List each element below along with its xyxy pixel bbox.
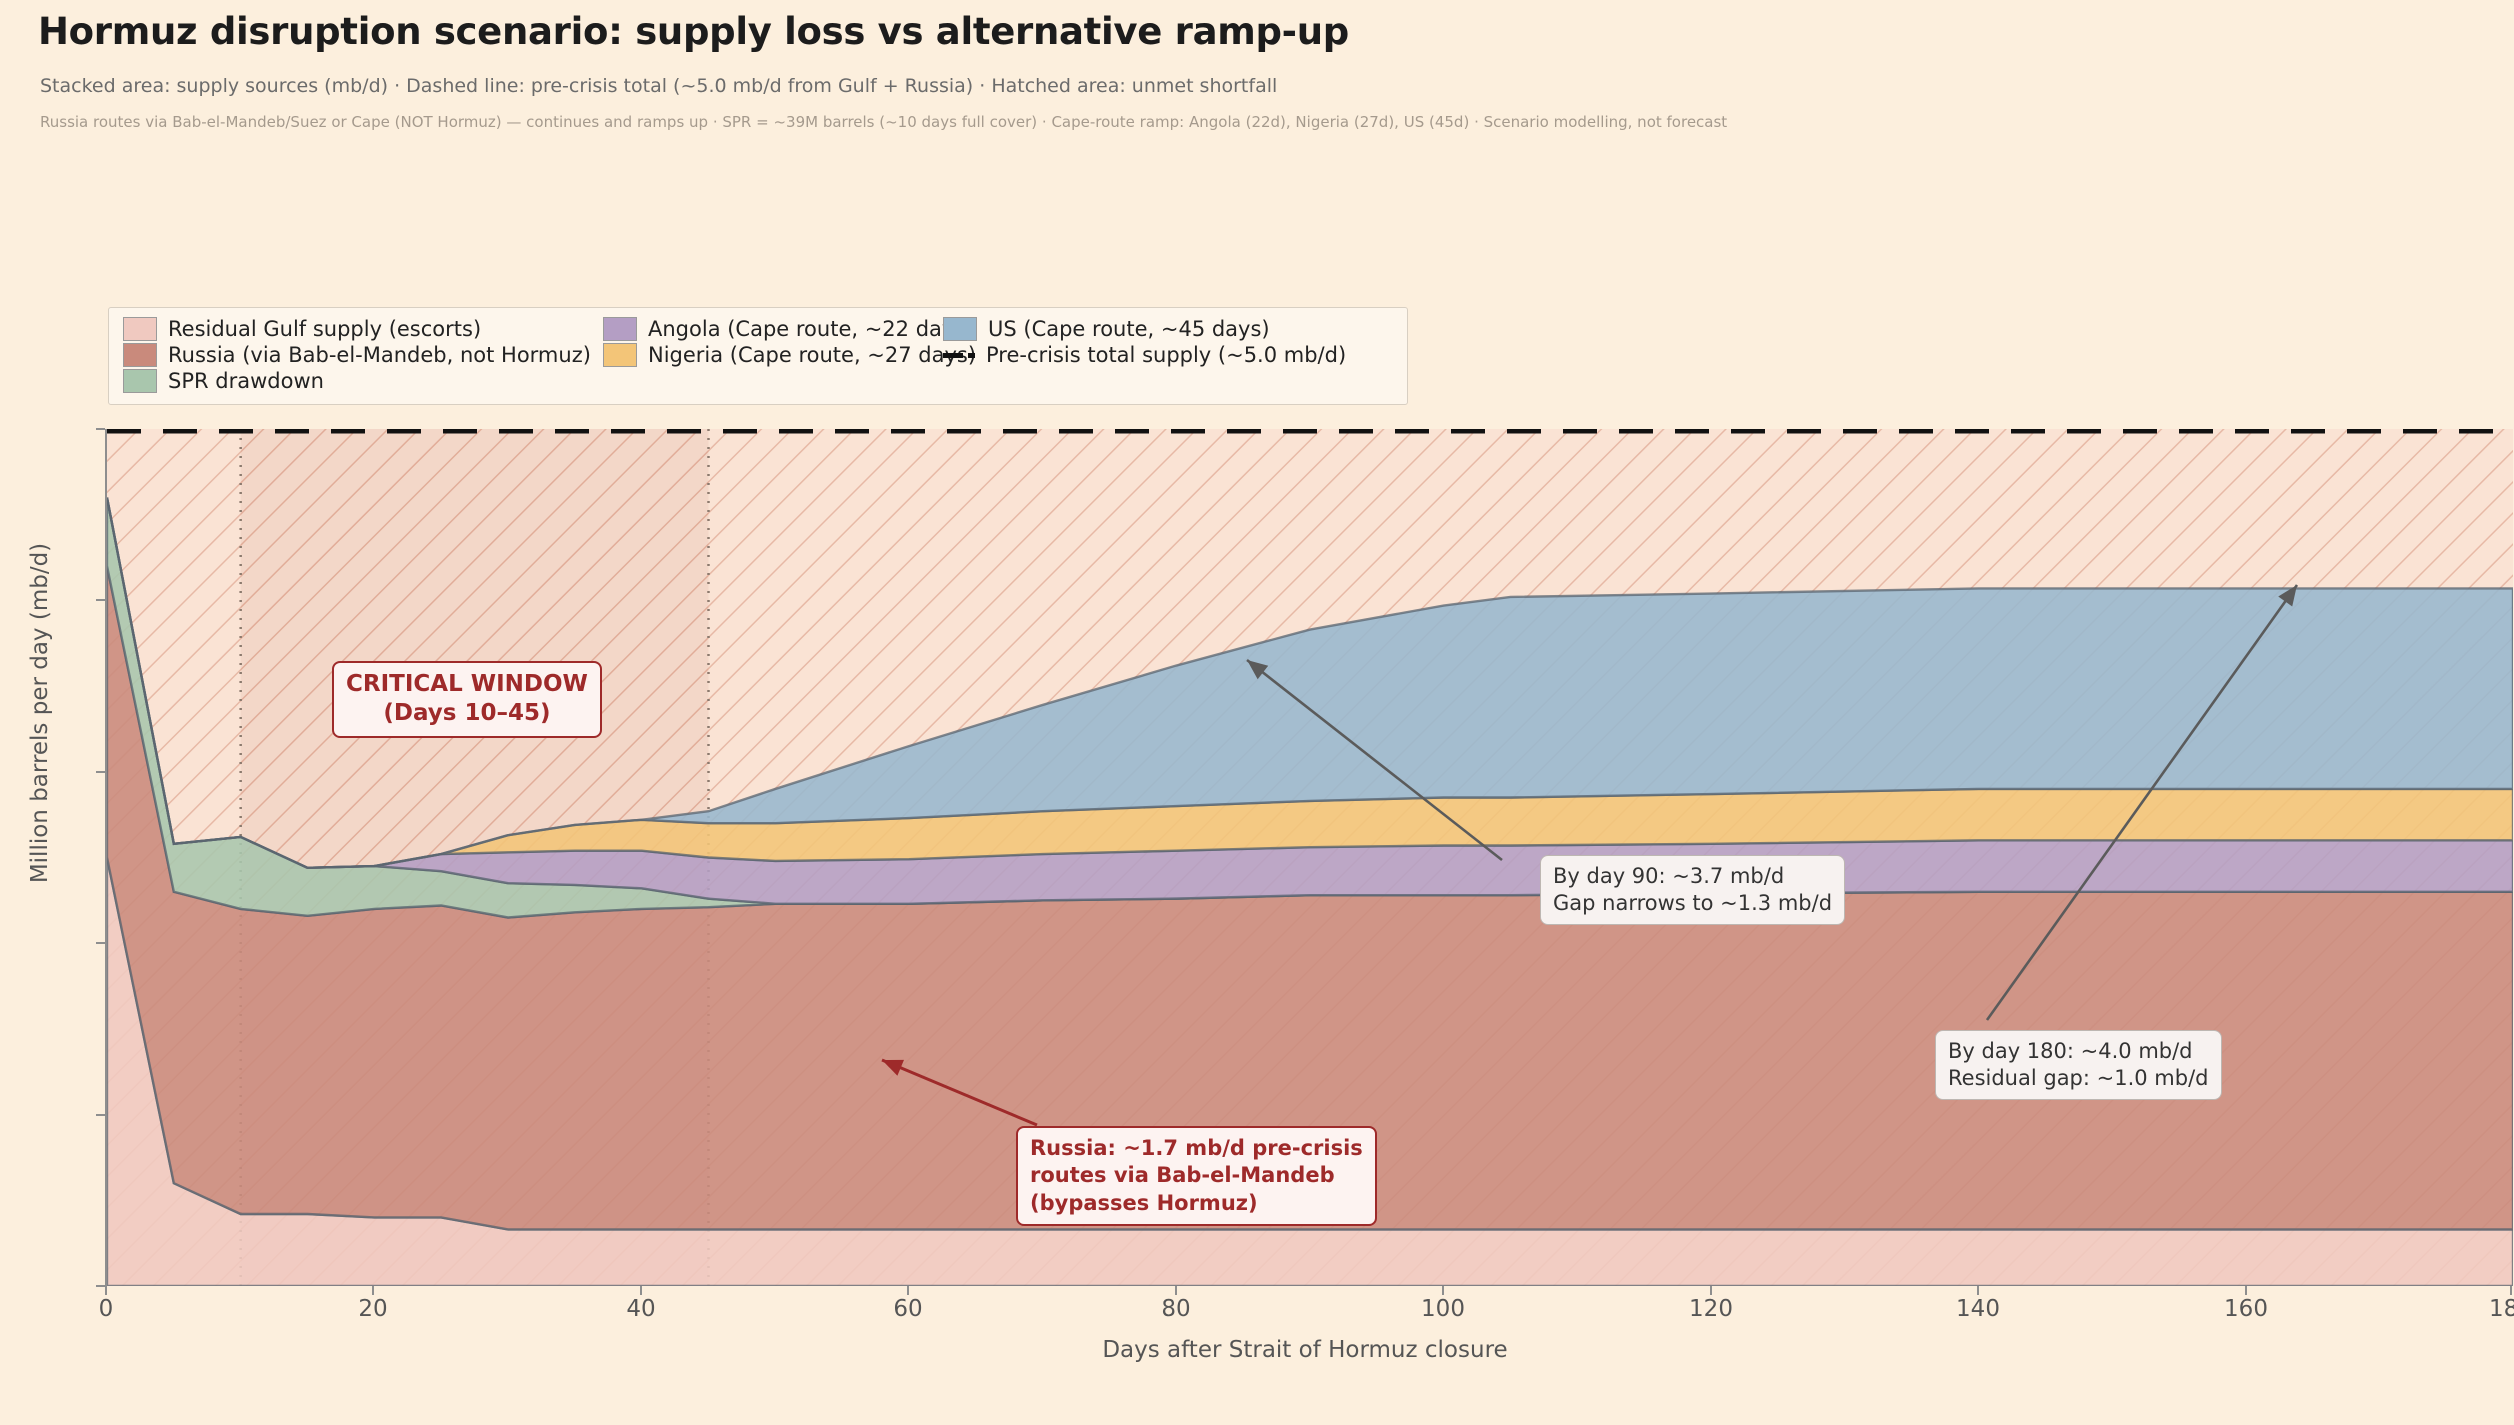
legend-row: SPR drawdown bbox=[123, 369, 1393, 393]
legend-row: Russia (via Bab-el-Mandeb, not Hormuz) N… bbox=[123, 343, 1393, 367]
x-tick-label: 180 bbox=[2471, 1296, 2514, 1322]
y-tick-mark bbox=[96, 599, 105, 601]
x-tick-label: 100 bbox=[1403, 1296, 1483, 1322]
x-tick-label: 40 bbox=[601, 1296, 681, 1322]
y-tick-mark bbox=[96, 1285, 105, 1287]
x-tick-mark bbox=[907, 1286, 909, 1295]
y-axis-label: Million barrels per day (mb/d) bbox=[27, 313, 53, 1113]
y-tick-mark bbox=[96, 942, 105, 944]
x-tick-label: 160 bbox=[2206, 1296, 2286, 1322]
legend-item-angola[interactable]: Angola (Cape route, ~22 days) bbox=[603, 317, 943, 341]
legend-label: Residual Gulf supply (escorts) bbox=[168, 317, 481, 341]
legend-swatch-russia bbox=[123, 343, 157, 367]
x-tick-mark bbox=[372, 1286, 374, 1295]
legend-label: Nigeria (Cape route, ~27 days) bbox=[648, 343, 976, 367]
x-tick-mark bbox=[2245, 1286, 2247, 1295]
x-tick-mark bbox=[105, 1286, 107, 1295]
legend-swatch-residual-gulf bbox=[123, 317, 157, 341]
legend-item-residual-gulf[interactable]: Residual Gulf supply (escorts) bbox=[123, 317, 603, 341]
legend-swatch-angola bbox=[603, 317, 637, 341]
x-tick-mark bbox=[1977, 1286, 1979, 1295]
legend-row: Residual Gulf supply (escorts) Angola (C… bbox=[123, 317, 1393, 341]
legend-item-precrisis-line[interactable]: Pre-crisis total supply (~5.0 mb/d) bbox=[943, 343, 1346, 367]
x-tick-mark bbox=[1442, 1286, 1444, 1295]
chart-subtitle-secondary: Russia routes via Bab-el-Mandeb/Suez or … bbox=[40, 113, 1727, 131]
annotation-russia-note: Russia: ~1.7 mb/d pre-crisis routes via … bbox=[1016, 1126, 1377, 1226]
page-title: Hormuz disruption scenario: supply loss … bbox=[38, 10, 1349, 53]
x-tick-mark bbox=[1710, 1286, 1712, 1295]
y-tick-mark bbox=[96, 771, 105, 773]
legend-swatch-dashed-line bbox=[943, 344, 975, 366]
x-tick-label: 120 bbox=[1671, 1296, 1751, 1322]
legend-item-russia[interactable]: Russia (via Bab-el-Mandeb, not Hormuz) bbox=[123, 343, 603, 367]
legend-swatch-us bbox=[943, 317, 977, 341]
annotation-day-180: By day 180: ~4.0 mb/d Residual gap: ~1.0… bbox=[1935, 1030, 2222, 1100]
annotation-day-90: By day 90: ~3.7 mb/d Gap narrows to ~1.3… bbox=[1540, 855, 1845, 925]
x-tick-label: 60 bbox=[868, 1296, 948, 1322]
x-tick-mark bbox=[2510, 1286, 2512, 1295]
x-tick-mark bbox=[1175, 1286, 1177, 1295]
legend-label: Russia (via Bab-el-Mandeb, not Hormuz) bbox=[168, 343, 591, 367]
x-tick-label: 80 bbox=[1136, 1296, 1216, 1322]
y-tick-mark bbox=[96, 428, 105, 430]
x-axis-label: Days after Strait of Hormuz closure bbox=[705, 1337, 1905, 1363]
legend-swatch-nigeria bbox=[603, 343, 637, 367]
legend-label: US (Cape route, ~45 days) bbox=[988, 317, 1270, 341]
x-tick-mark bbox=[640, 1286, 642, 1295]
legend-label: SPR drawdown bbox=[168, 369, 324, 393]
x-tick-label: 20 bbox=[333, 1296, 413, 1322]
legend-item-spr[interactable]: SPR drawdown bbox=[123, 369, 603, 393]
y-tick-mark bbox=[96, 1114, 105, 1116]
x-tick-label: 0 bbox=[66, 1296, 146, 1322]
legend-item-us[interactable]: US (Cape route, ~45 days) bbox=[943, 317, 1270, 341]
x-tick-label: 140 bbox=[1938, 1296, 2018, 1322]
chart-legend: Residual Gulf supply (escorts) Angola (C… bbox=[108, 307, 1408, 405]
annotation-critical-window: CRITICAL WINDOW (Days 10–45) bbox=[332, 661, 602, 738]
legend-swatch-spr bbox=[123, 369, 157, 393]
legend-label: Pre-crisis total supply (~5.0 mb/d) bbox=[986, 343, 1346, 367]
chart-subtitle: Stacked area: supply sources (mb/d) · Da… bbox=[40, 75, 1277, 97]
legend-item-nigeria[interactable]: Nigeria (Cape route, ~27 days) bbox=[603, 343, 943, 367]
legend-label: Angola (Cape route, ~22 days) bbox=[648, 317, 973, 341]
